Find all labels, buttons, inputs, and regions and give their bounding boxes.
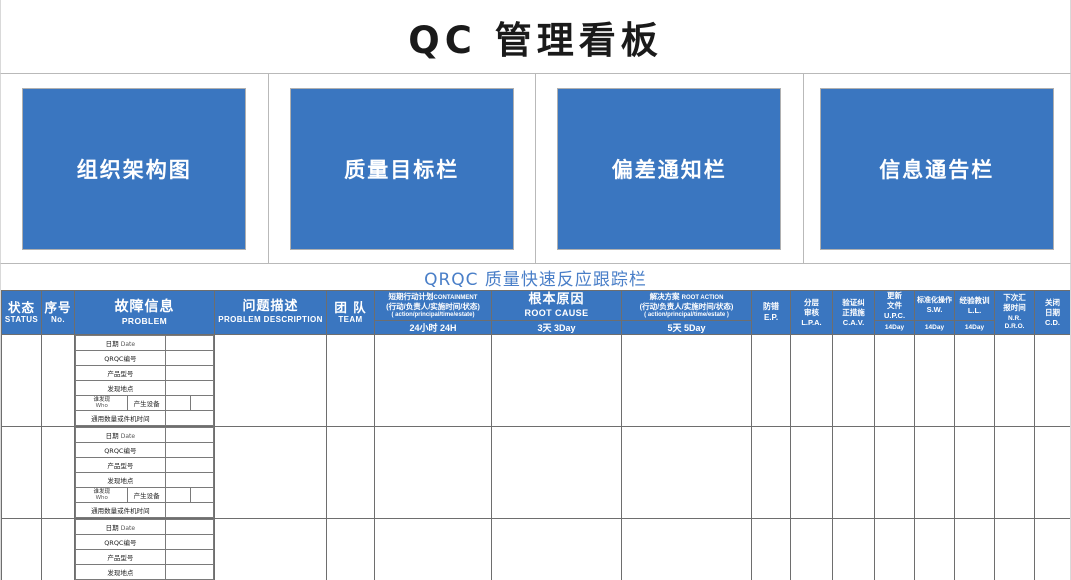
col-lpa: 分层 审核 L.P.A. [791,291,833,335]
problem-subrow: QRQC编号 [76,351,214,366]
cell-root-action[interactable] [622,335,752,427]
panel-cell-quality-target[interactable]: 质量目标栏 [269,74,537,263]
col-cav: 验证纠 正措施 C.A.V. [833,291,875,335]
quantity-time-label: 通用数量或件机时间 [76,503,166,518]
information-bulletin-panel[interactable]: 信息通告栏 [820,88,1054,250]
cell-cav[interactable] [833,519,875,580]
qc-management-board: QC 管理看板 组织架构图 质量目标栏 偏差通知栏 信息通告栏 QRQC 质量快… [0,0,1071,556]
header-row: 状态 STATUS 序号 No. 故障信息 PROBLEM 问题描述 PROBL… [2,291,1071,321]
deadline-sw: 14Day [915,321,955,335]
cell-next-review[interactable] [995,427,1035,519]
cell-cav[interactable] [833,427,875,519]
cell-next-review[interactable] [995,335,1035,427]
board-title-row: QC 管理看板 [0,0,1071,74]
qrqc-section-title-row: QRQC 质量快速反应跟踪栏 [0,264,1071,290]
cell-sw[interactable] [915,519,955,580]
cell-ll[interactable] [955,519,995,580]
cell-lpa[interactable] [791,427,833,519]
problem-subrow-label: 日期 Date [76,336,166,351]
problem-subrow-label: QRQC编号 [76,535,166,550]
who-label: 谁发现Who [76,488,128,503]
col-root-action: 解决方案 ROOT ACTION (行动/负责人/实施时间/状态) ( acti… [622,291,752,321]
col-ll: 经验教训 L.L. [955,291,995,321]
panel-cell-information-bulletin[interactable]: 信息通告栏 [804,74,1071,263]
cell-upc[interactable] [875,335,915,427]
cell-problem-description[interactable] [215,427,327,519]
problem-subrow-value[interactable] [165,366,213,381]
qrqc-table: 状态 STATUS 序号 No. 故障信息 PROBLEM 问题描述 PROBL… [1,290,1071,580]
problem-subrow-label: 日期 Date [76,428,166,443]
quality-target-panel[interactable]: 质量目标栏 [290,88,514,250]
problem-subrow-value[interactable] [165,336,213,351]
col-containment: 短期行动计划CONTAINMENT (行动/负责人/实施时间/状态) ( act… [375,291,492,321]
cell-error-proofing[interactable] [752,519,791,580]
col-team: 团 队 TEAM [327,291,375,335]
who-label: 谁发现Who [76,396,128,411]
cell-status[interactable] [2,335,42,427]
cell-sw[interactable] [915,335,955,427]
cell-ll[interactable] [955,427,995,519]
problem-subrow: 产品型号 [76,550,214,565]
cell-cav[interactable] [833,335,875,427]
problem-subrow: 日期 Date [76,428,214,443]
problem-subrow: 发现地点 [76,473,214,488]
problem-subrow: 发现地点 [76,565,214,580]
col-problem-description: 问题描述 PROBLEM DESCRIPTION [215,291,327,335]
problem-subrow: 日期 Date [76,520,214,535]
problem-subrow-value[interactable] [165,565,213,580]
cell-status[interactable] [2,519,42,580]
problem-subrow-label: QRQC编号 [76,351,166,366]
problem-subgrid: 日期 DateQRQC编号产品型号发现地点谁发现Who产生设备通用数量或件机时间 [75,335,214,426]
quantity-time-value[interactable] [165,411,213,426]
deadline-root-cause: 3天 3Day [492,321,622,335]
cell-lpa[interactable] [791,519,833,580]
qrqc-table-body: 日期 DateQRQC编号产品型号发现地点谁发现Who产生设备通用数量或件机时间… [2,335,1071,580]
col-next-review: 下次汇 报时间 N.R. D.R.O. [995,291,1035,335]
col-status: 状态 STATUS [2,291,42,335]
cell-problem-description[interactable] [215,335,327,427]
col-root-cause: 根本原因 ROOT CAUSE [492,291,622,321]
table-row: 日期 DateQRQC编号产品型号发现地点谁发现Who产生设备通用数量或件机时间 [2,519,1071,580]
col-no: 序号 No. [42,291,75,335]
problem-subrow-value[interactable] [165,428,213,443]
cell-team[interactable] [327,519,375,580]
page-title: QC 管理看板 [408,10,663,64]
problem-subrow-value[interactable] [165,458,213,473]
qrqc-table-wrap: 状态 STATUS 序号 No. 故障信息 PROBLEM 问题描述 PROBL… [0,290,1071,580]
deadline-ll: 14Day [955,321,995,335]
cell-root-cause[interactable] [492,519,622,580]
cell-containment[interactable] [375,427,492,519]
cell-error-proofing[interactable] [752,335,791,427]
cell-close-date[interactable] [1035,427,1071,519]
problem-subrow-value[interactable] [165,535,213,550]
cell-no[interactable] [42,335,75,427]
cell-team[interactable] [327,427,375,519]
cell-problem: 日期 DateQRQC编号产品型号发现地点谁发现Who产生设备通用数量或件机时间 [75,519,215,580]
cell-status[interactable] [2,427,42,519]
who-equipment-row: 谁发现Who产生设备 [76,488,214,503]
problem-subrow-label: QRQC编号 [76,443,166,458]
problem-subrow-label: 发现地点 [76,565,166,580]
problem-subrow: 产品型号 [76,458,214,473]
cell-root-action[interactable] [622,427,752,519]
problem-subrow-value[interactable] [165,550,213,565]
problem-subrow-value[interactable] [165,520,213,535]
equipment-value[interactable] [190,488,213,503]
cell-sw[interactable] [915,427,955,519]
deadline-containment: 24小时 24H [375,321,492,335]
problem-subgrid: 日期 DateQRQC编号产品型号发现地点谁发现Who产生设备通用数量或件机时间 [75,519,214,580]
cell-problem: 日期 DateQRQC编号产品型号发现地点谁发现Who产生设备通用数量或件机时间 [75,427,215,519]
problem-subrow-label: 产品型号 [76,366,166,381]
cell-root-action[interactable] [622,519,752,580]
cell-no[interactable] [42,427,75,519]
quantity-time-label: 通用数量或件机时间 [76,411,166,426]
cell-no[interactable] [42,519,75,580]
table-row: 日期 DateQRQC编号产品型号发现地点谁发现Who产生设备通用数量或件机时间 [2,427,1071,519]
cell-close-date[interactable] [1035,335,1071,427]
problem-subgrid: 日期 DateQRQC编号产品型号发现地点谁发现Who产生设备通用数量或件机时间 [75,427,214,518]
problem-subrow-label: 发现地点 [76,381,166,396]
table-row: 日期 DateQRQC编号产品型号发现地点谁发现Who产生设备通用数量或件机时间 [2,335,1071,427]
col-upc: 更新 文件 U.P.C. [875,291,915,321]
cell-root-cause[interactable] [492,427,622,519]
problem-subrow: QRQC编号 [76,443,214,458]
quantity-time-row: 通用数量或件机时间 [76,411,214,426]
deadline-root-action: 5天 5Day [622,321,752,335]
col-close-date: 关闭 日期 C.D. [1035,291,1071,335]
quantity-time-row: 通用数量或件机时间 [76,503,214,518]
problem-subrow: 产品型号 [76,366,214,381]
cell-problem-description[interactable] [215,519,327,580]
panel-row: 组织架构图 质量目标栏 偏差通知栏 信息通告栏 [0,74,1071,264]
problem-subrow: QRQC编号 [76,535,214,550]
cell-error-proofing[interactable] [752,427,791,519]
equipment-label: 产生设备 [128,488,165,503]
problem-subrow-value[interactable] [165,381,213,396]
org-chart-panel[interactable]: 组织架构图 [22,88,246,250]
cell-problem: 日期 DateQRQC编号产品型号发现地点谁发现Who产生设备通用数量或件机时间 [75,335,215,427]
cell-team[interactable] [327,335,375,427]
qrqc-section-title: QRQC 质量快速反应跟踪栏 [424,265,647,290]
panel-cell-org-chart[interactable]: 组织架构图 [1,74,269,263]
equipment-value[interactable] [190,396,213,411]
col-error-proofing: 防错 E.P. [752,291,791,335]
problem-subrow-value[interactable] [165,351,213,366]
panel-cell-deviation-notice[interactable]: 偏差通知栏 [536,74,804,263]
problem-subrow-label: 产品型号 [76,550,166,565]
who-value[interactable] [165,488,190,503]
problem-subrow-value[interactable] [165,443,213,458]
cell-next-review[interactable] [995,519,1035,580]
cell-close-date[interactable] [1035,519,1071,580]
cell-containment[interactable] [375,335,492,427]
problem-subrow-label: 发现地点 [76,473,166,488]
cell-upc[interactable] [875,427,915,519]
equipment-label: 产生设备 [128,396,165,411]
cell-ll[interactable] [955,335,995,427]
col-problem: 故障信息 PROBLEM [75,291,215,335]
cell-containment[interactable] [375,519,492,580]
deadline-upc: 14Day [875,321,915,335]
col-sw: 标准化操作 S.W. [915,291,955,321]
qrqc-table-head: 状态 STATUS 序号 No. 故障信息 PROBLEM 问题描述 PROBL… [2,291,1071,335]
problem-subrow: 发现地点 [76,381,214,396]
problem-subrow: 日期 Date [76,336,214,351]
problem-subrow-label: 日期 Date [76,520,166,535]
quantity-time-value[interactable] [165,503,213,518]
who-value[interactable] [165,396,190,411]
cell-lpa[interactable] [791,335,833,427]
who-equipment-row: 谁发现Who产生设备 [76,396,214,411]
cell-root-cause[interactable] [492,335,622,427]
cell-upc[interactable] [875,519,915,580]
problem-subrow-label: 产品型号 [76,458,166,473]
problem-subrow-value[interactable] [165,473,213,488]
deviation-notice-panel[interactable]: 偏差通知栏 [557,88,781,250]
